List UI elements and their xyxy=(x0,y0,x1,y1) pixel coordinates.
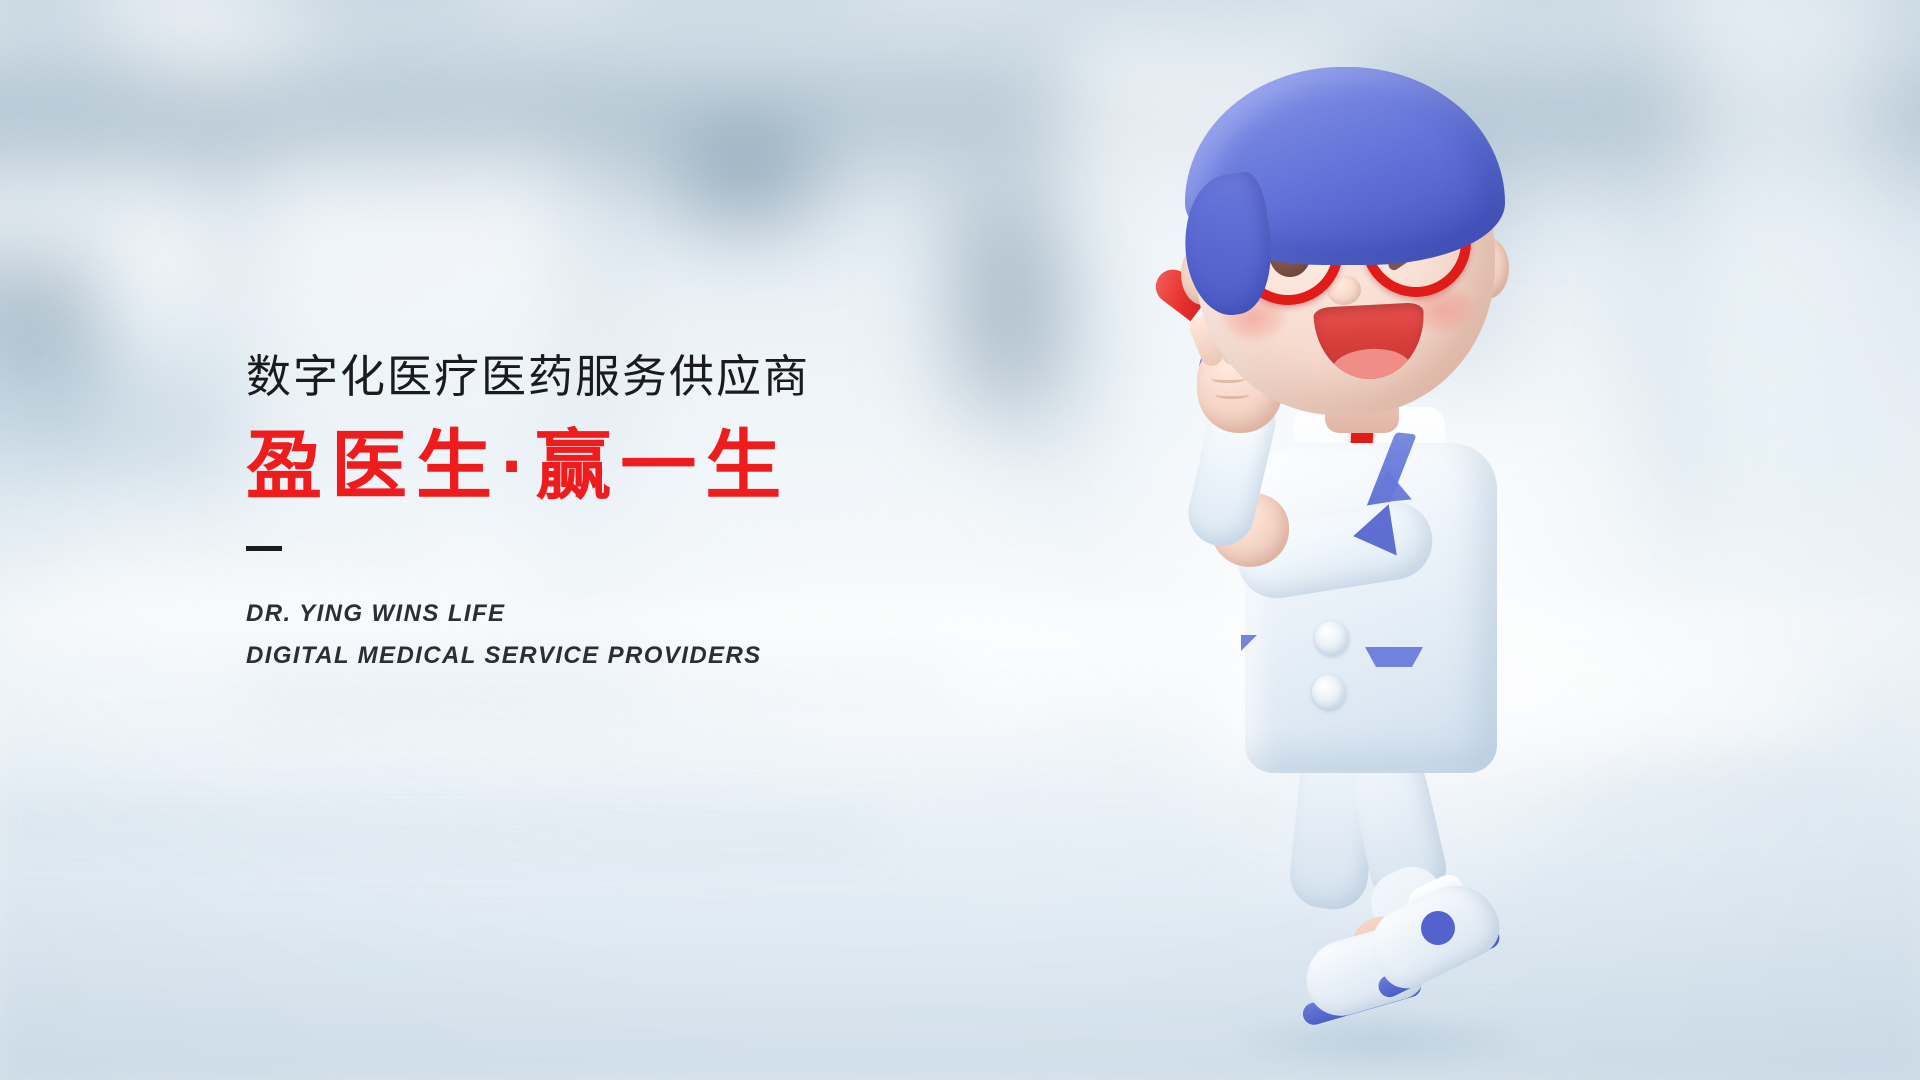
hero-copy-block: 数字化医疗医药服务供应商 盈医生·赢一生 DR. YING WINS LIFE … xyxy=(246,352,1006,678)
hero-divider-rule xyxy=(246,546,282,551)
coat-button-bottom xyxy=(1312,675,1346,709)
character-ground-shadow xyxy=(1235,1015,1525,1067)
hero-english-block: DR. YING WINS LIFE DIGITAL MEDICAL SERVI… xyxy=(246,593,1006,678)
cuff-lower xyxy=(1349,504,1397,562)
coat-side-accent xyxy=(1241,635,1257,651)
knuckle-crease-1 xyxy=(1211,375,1245,383)
coat-button-top xyxy=(1315,621,1349,655)
hero-english-line-1: DR. YING WINS LIFE xyxy=(246,593,1006,636)
hero-banner: 数字化医疗医药服务供应商 盈医生·赢一生 DR. YING WINS LIFE … xyxy=(0,0,1920,1080)
hero-tagline: 数字化医疗医药服务供应商 xyxy=(246,352,1006,402)
tongue xyxy=(1331,347,1411,382)
doctor-mascot-illustration xyxy=(1175,55,1595,1045)
hero-english-line-2: DIGITAL MEDICAL SERVICE PROVIDERS xyxy=(246,635,1006,678)
coat-pocket xyxy=(1365,647,1423,667)
knuckle-crease-2 xyxy=(1215,391,1249,399)
hero-headline: 盈医生·赢一生 xyxy=(246,426,1006,508)
